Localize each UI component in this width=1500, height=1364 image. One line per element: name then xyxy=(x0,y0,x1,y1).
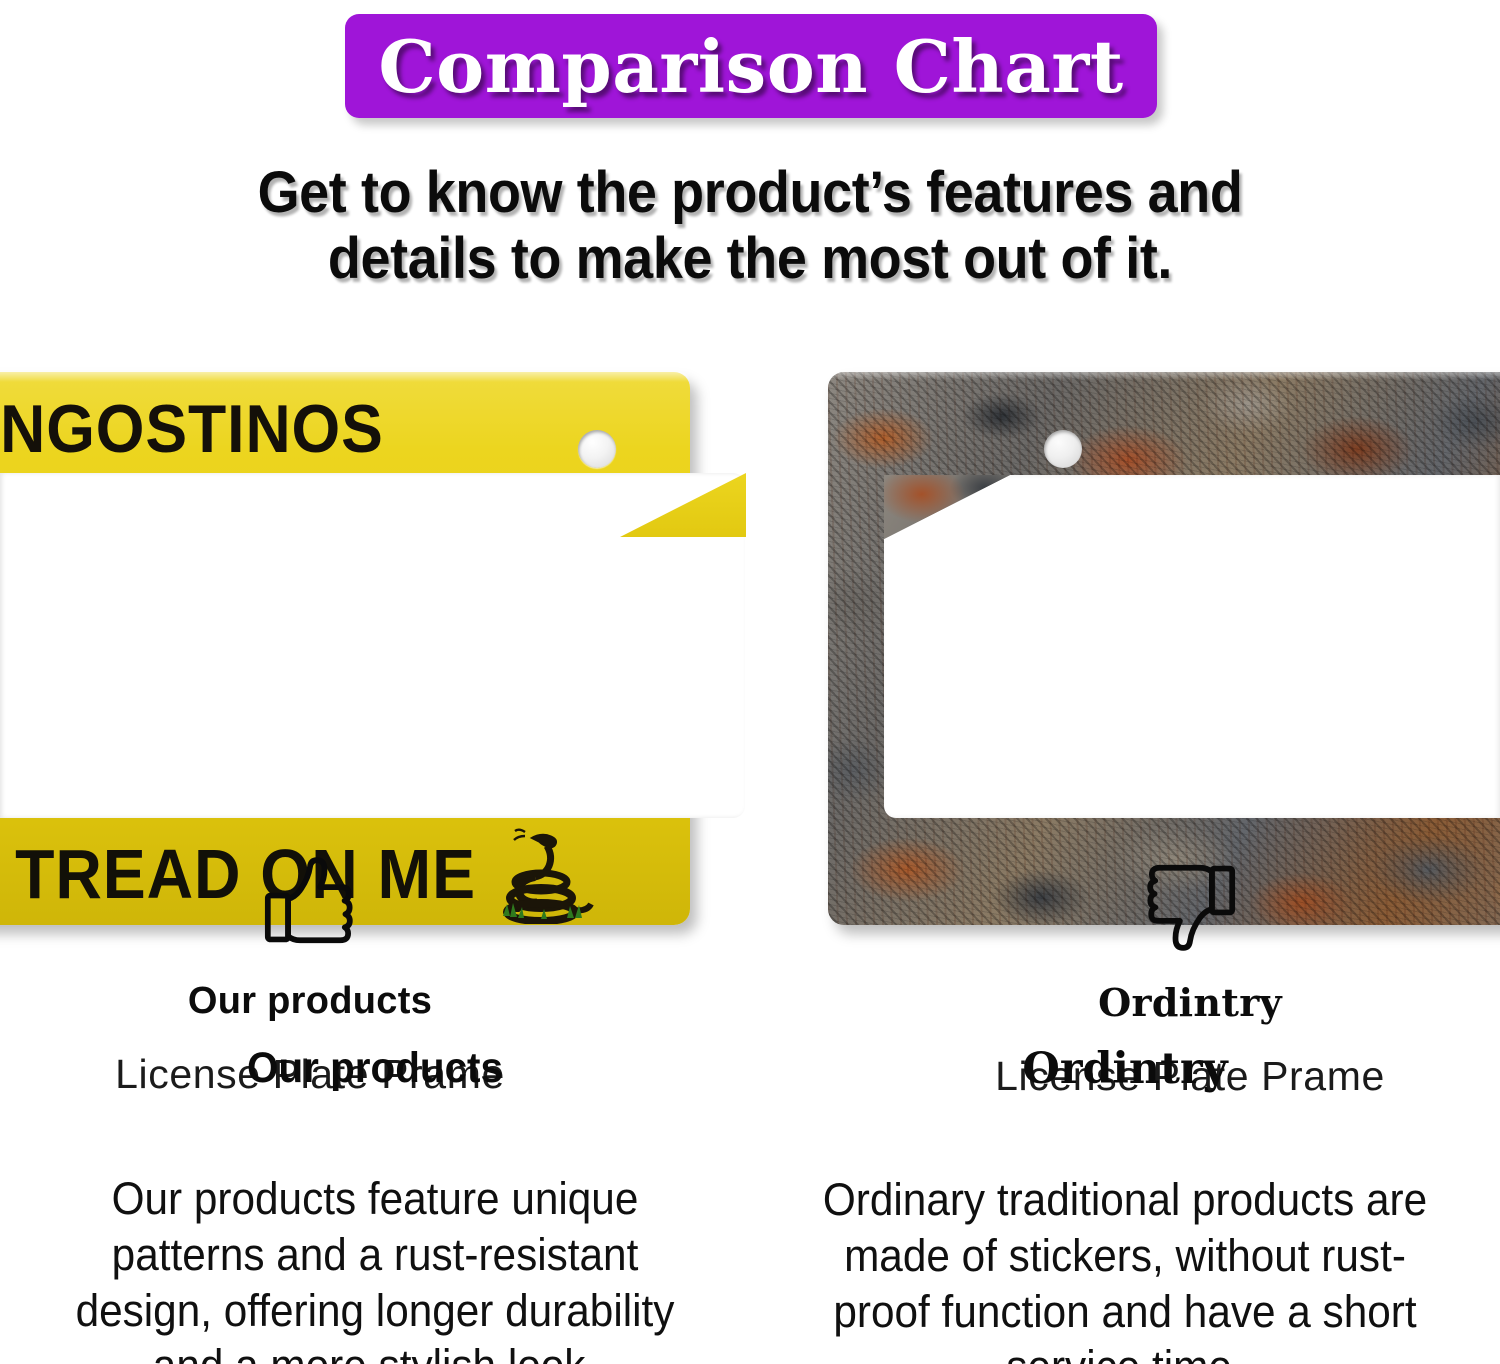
subtitle-line-1: Get to know the product’s features and xyxy=(53,160,1448,226)
comparison-body-ours: Our products feature unique patterns and… xyxy=(60,1171,690,1364)
thumbs-down-icon xyxy=(1135,850,1245,958)
our-product-title: Our products xyxy=(0,980,620,1023)
comparison-text-row: Our products Our products feature unique… xyxy=(0,1020,1500,1364)
plate-top-text: ANGOSTINOS xyxy=(0,390,384,468)
comparison-chart-page: Comparison Chart Get to know the product… xyxy=(0,0,1500,1364)
ordinary-product-window xyxy=(884,475,1500,818)
mounting-hole-right xyxy=(1044,430,1082,468)
comparison-column-ours: Our products Our products feature unique… xyxy=(0,1020,750,1364)
ordinary-product-title: Ordintry xyxy=(880,980,1500,1025)
title-banner: Comparison Chart xyxy=(345,14,1157,118)
product-panels: ANGOSTINOS T TREAD ON ME xyxy=(0,370,1500,950)
thumbs-up-icon xyxy=(255,850,365,958)
frame-highlight-right xyxy=(828,372,1500,380)
comparison-column-ordinary: Ordintry Ordinary traditional products a… xyxy=(750,1020,1500,1364)
comparison-heading-ordinary: Ordintry xyxy=(790,1044,1460,1094)
mounting-hole-left xyxy=(578,430,616,468)
our-product-window xyxy=(0,473,745,818)
page-subtitle: Get to know the product’s features and d… xyxy=(53,160,1448,292)
comparison-body-ordinary: Ordinary traditional products are made o… xyxy=(810,1172,1440,1364)
page-title: Comparison Chart xyxy=(378,24,1123,109)
comparison-heading-ours: Our products xyxy=(60,1044,690,1093)
subtitle-line-2: details to make the most out of it. xyxy=(53,226,1448,292)
